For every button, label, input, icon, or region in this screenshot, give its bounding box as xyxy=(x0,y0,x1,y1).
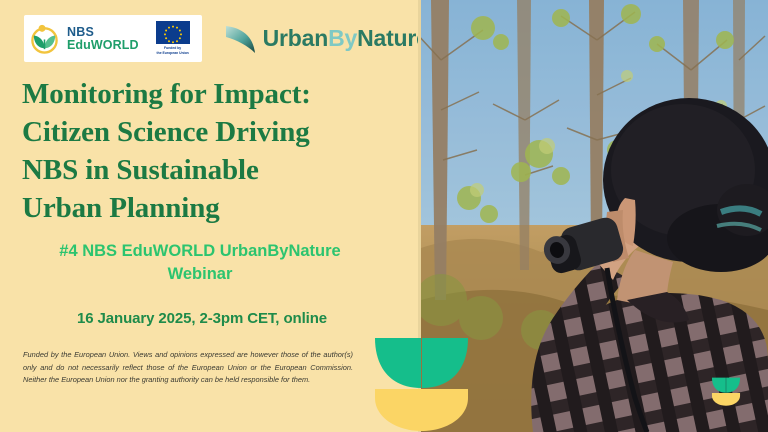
urbanbynature-logo: UrbanByNature xyxy=(224,22,421,56)
webinar-poster: NBS EduWORLD xyxy=(0,0,768,432)
title-line-1: Monitoring for Impact: xyxy=(22,76,402,114)
content-panel: NBS EduWORLD xyxy=(0,0,421,432)
nbs-logo-line2: EduWORLD xyxy=(67,39,139,52)
title-line-4: Urban Planning xyxy=(22,190,402,228)
event-subtitle: #4 NBS EduWORLD UrbanByNature Webinar xyxy=(0,240,400,287)
funding-disclaimer: Funded by the European Union. Views and … xyxy=(23,349,353,387)
eu-caption-line2: the European Union xyxy=(150,51,196,56)
hero-photo xyxy=(421,0,768,432)
photo-illustration xyxy=(421,0,768,432)
subtitle-line-2: Webinar xyxy=(0,263,400,286)
nbs-logo-line1: NBS xyxy=(67,26,139,39)
eu-flag-icon xyxy=(156,21,190,44)
event-datetime: 16 January 2025, 2-3pm CET, online xyxy=(0,310,404,327)
tulip-logo-icon xyxy=(711,377,741,406)
tulip-logo-icon xyxy=(373,336,470,432)
eu-funding-caption: Funded by the European Union xyxy=(150,46,196,55)
ubn-part-by: By xyxy=(328,25,357,51)
title-line-3: NBS in Sustainable xyxy=(22,152,402,190)
ubn-part-nature: Nature xyxy=(357,25,421,51)
nbs-eduworld-wordmark: NBS EduWORLD xyxy=(67,26,139,52)
leaf-swoosh-icon xyxy=(224,22,258,56)
ubn-part-urban: Urban xyxy=(263,25,328,51)
leaf-sprout-icon xyxy=(29,23,60,54)
logo-bar: NBS EduWORLD xyxy=(24,15,421,62)
urbanbynature-wordmark: UrbanByNature xyxy=(263,25,421,52)
subtitle-line-1: #4 NBS EduWORLD UrbanByNature xyxy=(0,240,400,263)
title-line-2: Citizen Science Driving xyxy=(22,114,402,152)
nbs-eduworld-logo: NBS EduWORLD xyxy=(24,15,202,62)
eu-funding-logo: Funded by the European Union xyxy=(150,21,196,55)
page-title: Monitoring for Impact: Citizen Science D… xyxy=(22,76,402,228)
